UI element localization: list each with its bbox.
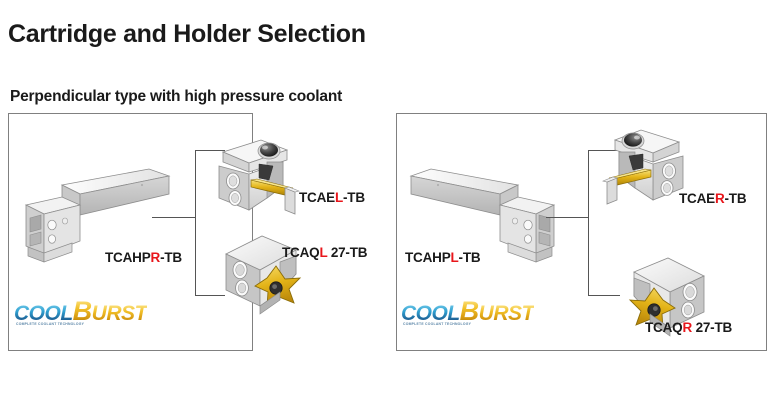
label-prefix: TCAE (299, 190, 335, 205)
logo-tagline: COMPLETE COOLANT TECHNOLOGY (16, 322, 84, 326)
label-hand: R (715, 191, 725, 206)
leader-line-holder-right (546, 217, 588, 218)
label-suffix: -TB (459, 250, 481, 265)
coolburst-logo-left: COOLBURST COMPLETE COOLANT TECHNOLOGY (14, 299, 179, 333)
leader-spine-left (195, 150, 196, 295)
label-prefix: TCAHP (405, 250, 451, 265)
label-prefix: TCAHP (105, 250, 151, 265)
label-suffix: 27-TB (327, 245, 367, 260)
logo-urst-text: URST (92, 302, 147, 325)
coolburst-logo-right: COOLBURST COMPLETE COOLANT TECHNOLOGY (401, 299, 566, 333)
logo-tagline: COMPLETE COOLANT TECHNOLOGY (403, 322, 471, 326)
label-hand: L (335, 190, 343, 205)
label-holder-tcahpl-tb: TCAHPL-TB (405, 250, 480, 265)
label-suffix: -TB (160, 250, 182, 265)
cartridge-tcaer-tb-illustration (597, 126, 689, 210)
label-suffix: 27-TB (692, 320, 732, 335)
label-hand: L (451, 250, 459, 265)
label-cartridge-tcael-tb: TCAEL-TB (299, 190, 365, 205)
leader-spine-right (588, 150, 589, 295)
cartridge-tcaql-27-tb-illustration (218, 226, 316, 318)
catalog-page: Cartridge and Holder Selection Perpendic… (0, 0, 775, 400)
label-prefix: TCAQ (282, 245, 319, 260)
label-suffix: -TB (725, 191, 747, 206)
section-subtitle: Perpendicular type with high pressure co… (10, 88, 342, 106)
label-suffix: -TB (343, 190, 365, 205)
label-prefix: TCAE (679, 191, 715, 206)
logo-urst-text: URST (479, 302, 534, 325)
label-hand: R (682, 320, 692, 335)
label-hand: R (151, 250, 161, 265)
label-cartridge-tcaql-27-tb: TCAQL 27-TB (282, 245, 367, 260)
label-holder-tcahpr-tb: TCAHPR-TB (105, 250, 182, 265)
label-cartridge-tcaer-tb: TCAER-TB (679, 191, 746, 206)
leader-line-holder-left (152, 217, 195, 218)
label-cartridge-tcaqr-27-tb: TCAQR 27-TB (645, 320, 732, 335)
label-prefix: TCAQ (645, 320, 682, 335)
page-title: Cartridge and Holder Selection (8, 20, 366, 49)
cartridge-tcael-tb-illustration (213, 136, 305, 220)
